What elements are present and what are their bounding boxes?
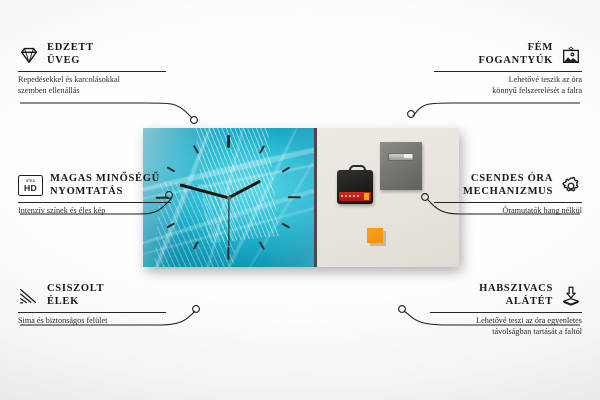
infographic-stage: EDZETTÜVEG Repedésekkel és karcolásokkal… xyxy=(0,0,600,400)
clock-tick xyxy=(167,222,176,228)
feature-title: MAGAS MINŐSÉGŰNYOMTATÁS xyxy=(50,173,160,199)
feature-silent-mechanism[interactable]: CSENDES ÓRAMECHANIZMUS Óramutatók hang n… xyxy=(434,173,582,217)
clock-mechanism-part xyxy=(337,170,373,204)
feature-foam-pad[interactable]: HABSZIVACSALÁTÉT Lehetővé teszi az óra e… xyxy=(430,283,582,338)
feature-header: CSENDES ÓRAMECHANIZMUS xyxy=(434,173,582,199)
feature-header: FÉMFOGANTYÚK xyxy=(434,42,582,68)
feature-description: Lehetővé teszik az órakönnyű felszerelés… xyxy=(434,75,582,97)
feature-description: Lehetővé teszi az óra egyenletestávolság… xyxy=(430,316,582,338)
feature-description: Repedésekkel és karcolásokkalszemben ell… xyxy=(18,75,166,97)
feature-header: CSISZOLTÉLEK xyxy=(18,283,166,309)
product-image xyxy=(143,128,459,267)
hanger-slot xyxy=(388,153,414,161)
clock-center-hub xyxy=(227,196,231,200)
clock-tick xyxy=(167,166,176,172)
anchor-point xyxy=(399,306,406,313)
divider xyxy=(430,312,582,313)
feature-title: HABSZIVACSALÁTÉT xyxy=(479,283,553,309)
feature-title: EDZETTÜVEG xyxy=(47,42,94,68)
feature-description: Óramutatók hang nélkül xyxy=(434,206,582,217)
feature-description: Sima és biztonságos felület xyxy=(18,316,166,327)
divider xyxy=(434,71,582,72)
foam-pad-icon xyxy=(560,285,582,307)
clock-tick xyxy=(258,145,264,154)
anchor-point xyxy=(193,306,200,313)
feature-header: ultra HD MAGAS MINŐSÉGŰNYOMTATÁS xyxy=(18,173,171,199)
feature-metal-hangers[interactable]: FÉMFOGANTYÚK Lehetővé teszik az órakönny… xyxy=(434,42,582,97)
clock-tick xyxy=(281,166,290,172)
feature-polished-edges[interactable]: CSISZOLTÉLEK Sima és biztonságos felület xyxy=(18,283,166,327)
feature-title: FÉMFOGANTYÚK xyxy=(478,42,553,68)
divider xyxy=(434,202,582,203)
feature-description: Intenzív színek és éles kép xyxy=(18,206,171,217)
clock-second-hand xyxy=(228,198,229,246)
anchor-point xyxy=(408,111,415,118)
gear-icon xyxy=(560,175,582,197)
clock-tick xyxy=(281,222,290,228)
divider xyxy=(18,71,166,72)
feature-title: CSENDES ÓRAMECHANIZMUS xyxy=(463,173,553,199)
polished-edge-icon xyxy=(18,285,40,307)
clock-minute-hand xyxy=(180,183,229,198)
clock-tick xyxy=(227,247,229,260)
divider xyxy=(18,312,166,313)
diamond-icon xyxy=(18,44,40,66)
anchor-point xyxy=(191,117,198,124)
badge-large-text: HD xyxy=(24,184,37,193)
feature-title: CSISZOLTÉLEK xyxy=(47,283,104,309)
clock-tick xyxy=(227,135,229,148)
mechanism-hook xyxy=(349,165,366,174)
clock-tick xyxy=(192,145,198,154)
battery xyxy=(339,192,371,201)
metal-hanger-part xyxy=(380,142,422,190)
clock-tick xyxy=(288,196,301,198)
feature-tempered-glass[interactable]: EDZETTÜVEG Repedésekkel és karcolásokkal… xyxy=(18,42,166,97)
clock-tick xyxy=(258,242,264,251)
picture-hanger-icon xyxy=(560,44,582,66)
feature-header: EDZETTÜVEG xyxy=(18,42,166,68)
foam-pad-part xyxy=(367,228,383,243)
feature-high-quality-print[interactable]: ultra HD MAGAS MINŐSÉGŰNYOMTATÁS Intenzí… xyxy=(18,173,171,217)
feature-header: HABSZIVACSALÁTÉT xyxy=(430,283,582,309)
clock-hour-hand xyxy=(228,179,261,199)
ultra-hd-badge-icon: ultra HD xyxy=(18,175,43,196)
clock-tick xyxy=(192,242,198,251)
divider xyxy=(18,202,171,203)
